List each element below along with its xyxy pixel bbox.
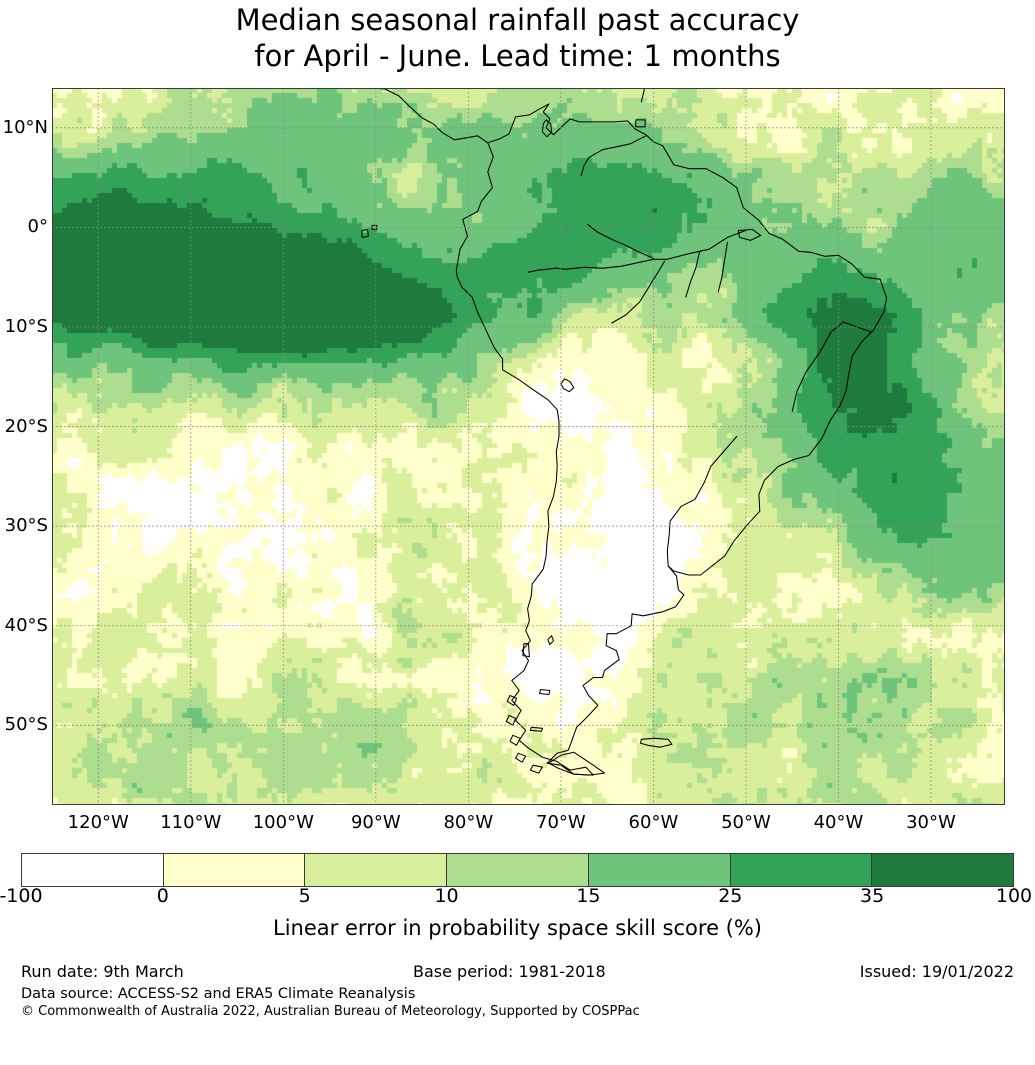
issued-date: Issued: 19/01/2022 bbox=[860, 962, 1014, 982]
colorbar-swatch bbox=[730, 854, 872, 886]
longitude-tick-label: 70°W bbox=[516, 814, 606, 832]
longitude-tick-label: 90°W bbox=[331, 814, 421, 832]
colorbar-swatch bbox=[871, 854, 1013, 886]
page-title: Median seasonal rainfall past accuracy f… bbox=[0, 2, 1035, 74]
longitude-tick-label: 30°W bbox=[886, 814, 976, 832]
longitude-tick-label: 60°W bbox=[608, 814, 698, 832]
colorbar-label: Linear error in probability space skill … bbox=[0, 916, 1035, 940]
colorbar-tick-label: -100 bbox=[0, 886, 61, 906]
longitude-tick-label: 110°W bbox=[146, 814, 236, 832]
copyright-notice: © Commonwealth of Australia 2022, Austra… bbox=[21, 1004, 640, 1020]
longitude-tick-label: 120°W bbox=[53, 814, 143, 832]
colorbar-swatch bbox=[446, 854, 588, 886]
colorbar-swatch bbox=[22, 854, 163, 886]
colorbar-swatch bbox=[588, 854, 730, 886]
longitude-tick-label: 100°W bbox=[238, 814, 328, 832]
colorbar-tick-label: 10 bbox=[407, 886, 487, 906]
latitude-tick-label: 50°S bbox=[0, 716, 48, 734]
latitude-tick-label: 30°S bbox=[0, 517, 48, 535]
longitude-tick-label: 50°W bbox=[701, 814, 791, 832]
colorbar-tick-label: 100 bbox=[974, 886, 1035, 906]
colorbar-tick-label: 25 bbox=[690, 886, 770, 906]
colorbar-swatch bbox=[304, 854, 446, 886]
longitude-tick-label: 80°W bbox=[423, 814, 513, 832]
colorbar-tick-label: 5 bbox=[265, 886, 345, 906]
latitude-tick-label: 10°S bbox=[0, 318, 48, 336]
latitude-tick-label: 0° bbox=[0, 218, 48, 236]
colorbar bbox=[21, 853, 1014, 887]
colorbar-tick-label: 0 bbox=[123, 886, 203, 906]
colorbar-tick-label: 35 bbox=[832, 886, 912, 906]
map-plot-area bbox=[52, 88, 1005, 805]
longitude-tick-label: 40°W bbox=[793, 814, 883, 832]
latitude-tick-label: 20°S bbox=[0, 418, 48, 436]
colorbar-swatch bbox=[163, 854, 305, 886]
graticule-gridlines bbox=[52, 88, 1005, 805]
latitude-tick-label: 40°S bbox=[0, 617, 48, 635]
colorbar-tick-label: 15 bbox=[548, 886, 628, 906]
footer-metadata: Run date: 9th March Base period: 1981-20… bbox=[21, 962, 1014, 982]
run-date: Run date: 9th March bbox=[21, 962, 184, 982]
base-period: Base period: 1981-2018 bbox=[413, 962, 606, 982]
latitude-tick-label: 10°N bbox=[0, 119, 48, 137]
data-source: Data source: ACCESS-S2 and ERA5 Climate … bbox=[21, 986, 415, 1003]
